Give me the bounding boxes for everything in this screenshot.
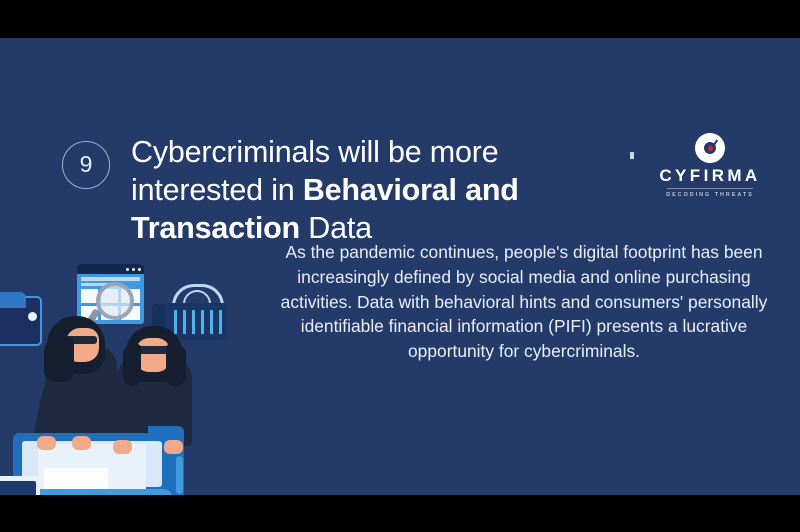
letterbox-bottom xyxy=(0,495,800,532)
hacker-left-hand xyxy=(72,436,91,450)
hacker-right-hood-right xyxy=(166,344,186,386)
cursor-artifact xyxy=(630,152,634,159)
hacker-left-hand xyxy=(37,436,56,450)
form-field-row xyxy=(0,481,36,495)
brand-logo: CYFIRMA DECODING THREATS xyxy=(640,133,780,203)
basket-slat xyxy=(219,310,222,334)
cyfirma-target-icon xyxy=(695,133,725,163)
slide-canvas: 9 Cybercriminals will be more interested… xyxy=(0,0,800,532)
basket-slat xyxy=(201,310,204,334)
browser-dot-icon xyxy=(138,268,141,271)
body-paragraph: As the pandemic continues, people's digi… xyxy=(276,240,772,364)
illustration: $ xyxy=(0,208,272,495)
browser-dot-icon xyxy=(132,268,135,271)
wallet-flap-icon xyxy=(0,292,26,308)
magnifier-icon xyxy=(96,282,134,320)
slide-content: 9 Cybercriminals will be more interested… xyxy=(0,38,800,495)
browser-content-strip xyxy=(81,277,140,281)
slide-number-badge: 9 xyxy=(62,141,110,189)
basket-slat xyxy=(192,310,195,334)
hacker-right-hood-left xyxy=(123,344,141,386)
basket-slat xyxy=(210,310,213,334)
basket-slat xyxy=(183,310,186,334)
hacker-right-hand xyxy=(164,440,183,454)
wallet-clasp-icon xyxy=(28,312,37,321)
folder-side-tab xyxy=(176,456,183,494)
hacker-right-face xyxy=(136,338,170,372)
logo-tagline: DECODING THREATS xyxy=(640,192,780,198)
letterbox-top xyxy=(0,0,800,38)
logo-wordmark: CYFIRMA xyxy=(640,167,780,185)
logo-divider xyxy=(667,188,753,189)
browser-dot-icon xyxy=(126,268,129,271)
basket-slat xyxy=(174,310,177,334)
hacker-right-hand xyxy=(113,440,132,454)
target-needle-icon xyxy=(710,139,718,149)
hacker-left-hood-front xyxy=(44,336,74,382)
